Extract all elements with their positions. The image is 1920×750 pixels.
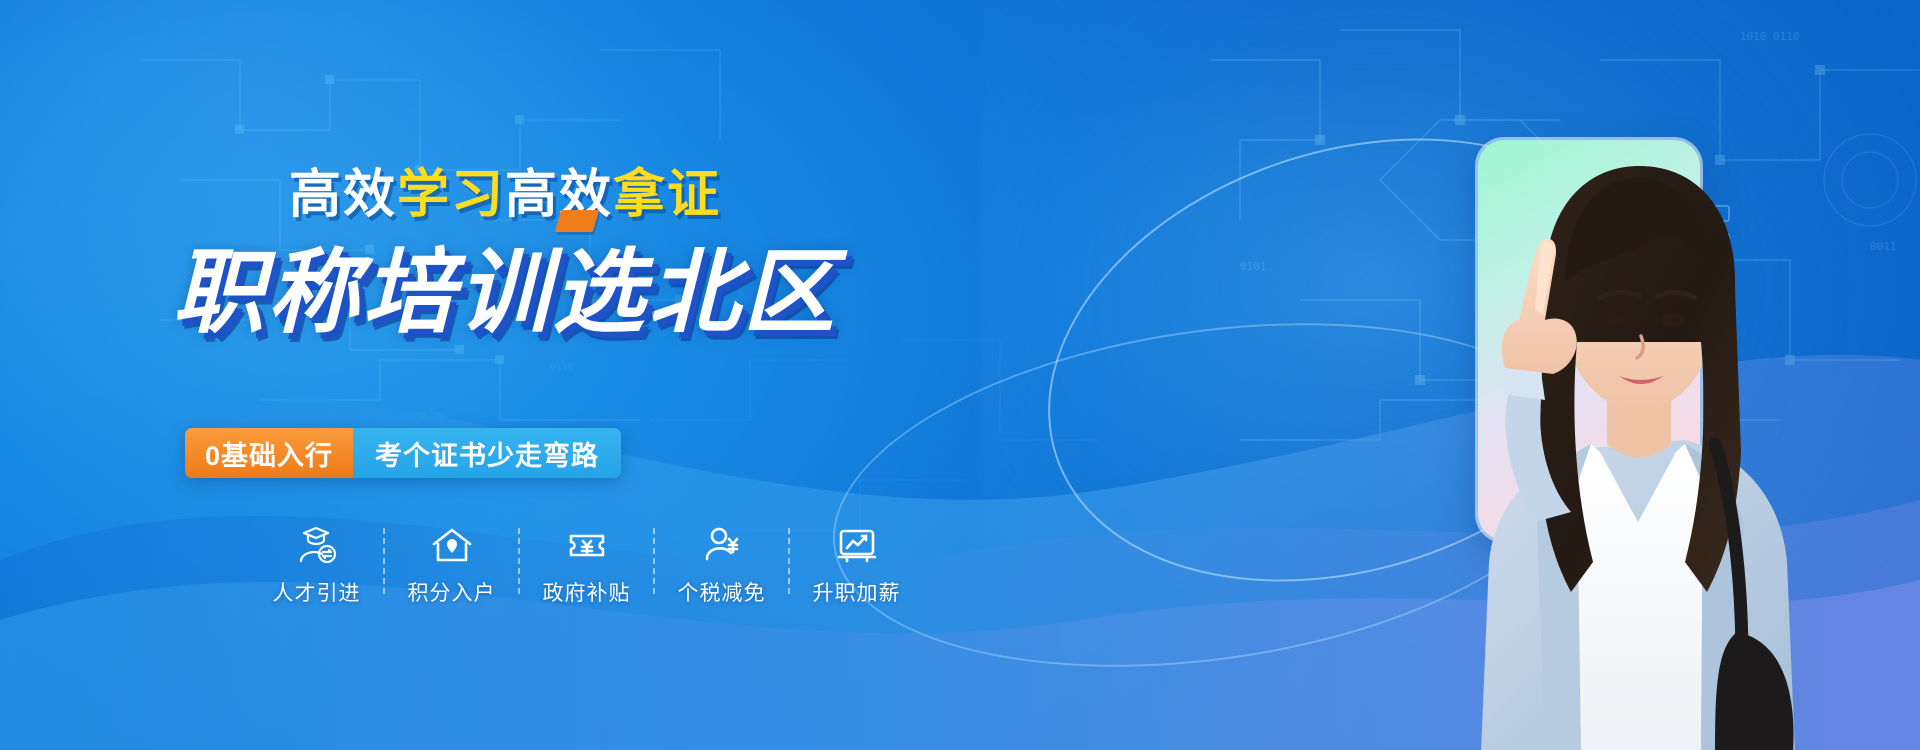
- feature-label: 政府补贴: [543, 577, 631, 607]
- graduate-exchange-icon: [294, 522, 340, 568]
- ticket-yuan-icon: [564, 522, 610, 568]
- chart-board-icon: [834, 522, 880, 568]
- pill-badge-secondary[interactable]: 考个证书少走弯路: [353, 428, 621, 478]
- feature-item-promotion[interactable]: 升职加薪: [790, 522, 923, 607]
- kicker-line: 高效学习高效拿证: [0, 152, 1010, 227]
- feature-label: 个税减免: [678, 577, 766, 607]
- hero-visual: [1160, 0, 1920, 750]
- feature-item-residency[interactable]: 积分入户: [385, 522, 518, 607]
- feature-item-talent[interactable]: 人才引进: [250, 522, 383, 607]
- feature-label: 升职加薪: [813, 577, 901, 607]
- copy-block: 高效学习高效拿证 职称培训选北区 0基础入行 考个证书少走弯路: [0, 0, 1060, 750]
- promo-banner: 2 39 1011 0110: [0, 0, 1920, 750]
- feature-list: 人才引进 积分入户: [250, 522, 923, 607]
- person-yuan-icon: [699, 522, 745, 568]
- house-pin-icon: [429, 522, 475, 568]
- headline-prefix: 职称培训: [172, 242, 552, 344]
- headline-accent-char: 选: [552, 218, 647, 351]
- kicker-seg-4-highlight: 拿证: [613, 166, 721, 224]
- kicker-seg-2-highlight: 学习: [397, 166, 505, 224]
- feature-item-tax[interactable]: 个税减免: [655, 522, 788, 607]
- feature-item-subsidy[interactable]: 政府补贴: [520, 522, 653, 607]
- tagline-pill-bar[interactable]: 0基础入行 考个证书少走弯路: [185, 428, 621, 478]
- pointing-woman-photo: [1385, 92, 1855, 750]
- pill-badge-primary[interactable]: 0基础入行: [185, 428, 353, 478]
- headline-suffix: 北区: [648, 242, 838, 344]
- kicker-seg-1: 高效: [289, 166, 397, 224]
- page-title: 职称培训选北区: [0, 218, 1010, 351]
- feature-label: 人才引进: [273, 577, 361, 607]
- feature-label: 积分入户: [408, 577, 496, 607]
